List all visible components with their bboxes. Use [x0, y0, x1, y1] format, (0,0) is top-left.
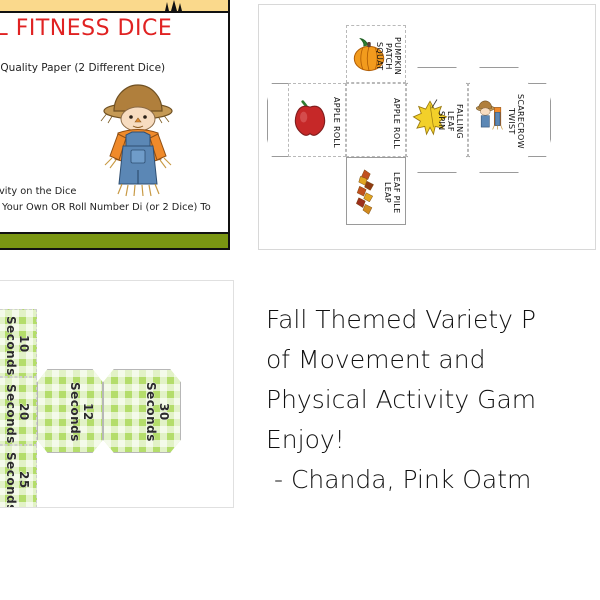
seconds-dice-card: 10 Seconds 20 Seconds 25 Seconds 12 Seco…: [0, 280, 234, 508]
net-flap-left: [267, 83, 289, 157]
net-flap-bottom-b: [469, 156, 529, 173]
cover-top-band: [0, 0, 228, 13]
note-line: Physical Activity Gam: [266, 380, 600, 420]
dice-face: FALLING LEAF SPIN: [406, 83, 468, 157]
dice-face: PUMPKIN PATCH SQUAT: [346, 25, 406, 83]
dice-face-label: APPLE ROLL: [332, 94, 341, 150]
note-line: Fall Themed Variety P: [266, 300, 600, 340]
cover-bottom-band: [0, 232, 228, 248]
scarecrow-icon: [92, 78, 184, 200]
cover-instruction-line: tions On Your Own OR Roll Number Di (or …: [0, 202, 211, 213]
cover-subtitle: d Stock Quality Paper (2 Different Dice): [0, 62, 165, 74]
cover-title: FALL FITNESS DICE: [0, 16, 172, 41]
fall-dice-card: APPLE ROLL PUMPKIN PATCH SQUAT APPLE ROL…: [258, 4, 596, 250]
apple-icon: [290, 98, 330, 138]
dice-face: LEAF PILE LEAP: [346, 157, 406, 225]
dice-face-label: SCARECROW TWIST: [507, 92, 525, 150]
dice-face-label: FALLING LEAF SPIN: [437, 92, 464, 150]
seconds-face: 25 Seconds: [0, 445, 37, 508]
grass-icon: [162, 0, 188, 11]
preview-page: FALL FITNESS DICE d Stock Quality Paper …: [0, 0, 600, 600]
seconds-face-label: 25 Seconds: [4, 452, 30, 508]
net-flap-right: [529, 83, 551, 157]
dice-face: SCARECROW TWIST: [468, 83, 530, 157]
seconds-face: 30 Seconds: [103, 369, 181, 453]
dice-face-label: LEAF PILE LEAP: [383, 164, 401, 222]
dice-face: APPLE ROLL: [346, 83, 406, 157]
scarecrow-icon: [473, 96, 509, 132]
dice-face-label: PUMPKIN PATCH SQUAT: [375, 32, 402, 80]
seconds-face-label: 10 Seconds: [4, 316, 30, 372]
cover-card: FALL FITNESS DICE d Stock Quality Paper …: [0, 0, 230, 250]
seconds-face-label: 30 Seconds: [144, 382, 170, 442]
dice-face: APPLE ROLL: [288, 83, 346, 157]
note-line: of Movement and: [266, 340, 600, 380]
seconds-face-label: 12 Seconds: [68, 382, 94, 442]
note-signature: - Chanda, Pink Oatm: [266, 460, 600, 500]
net-flap-top-b: [469, 67, 529, 84]
net-flap-bottom-a: [407, 156, 467, 173]
seconds-face-label: 20 Seconds: [4, 384, 30, 440]
closing-note: Fall Themed Variety P of Movement and Ph…: [266, 300, 600, 500]
leaf-pile-icon: [353, 164, 381, 220]
seconds-face: 10 Seconds: [0, 309, 37, 377]
note-line: Enjoy!: [266, 420, 600, 460]
dice-face-label: APPLE ROLL: [392, 96, 401, 150]
net-flap-top-a: [407, 67, 467, 84]
cover-instruction-line: orm Activity on the Dice: [0, 186, 76, 197]
seconds-face: 20 Seconds: [0, 377, 37, 445]
seconds-face: 12 Seconds: [37, 369, 103, 453]
